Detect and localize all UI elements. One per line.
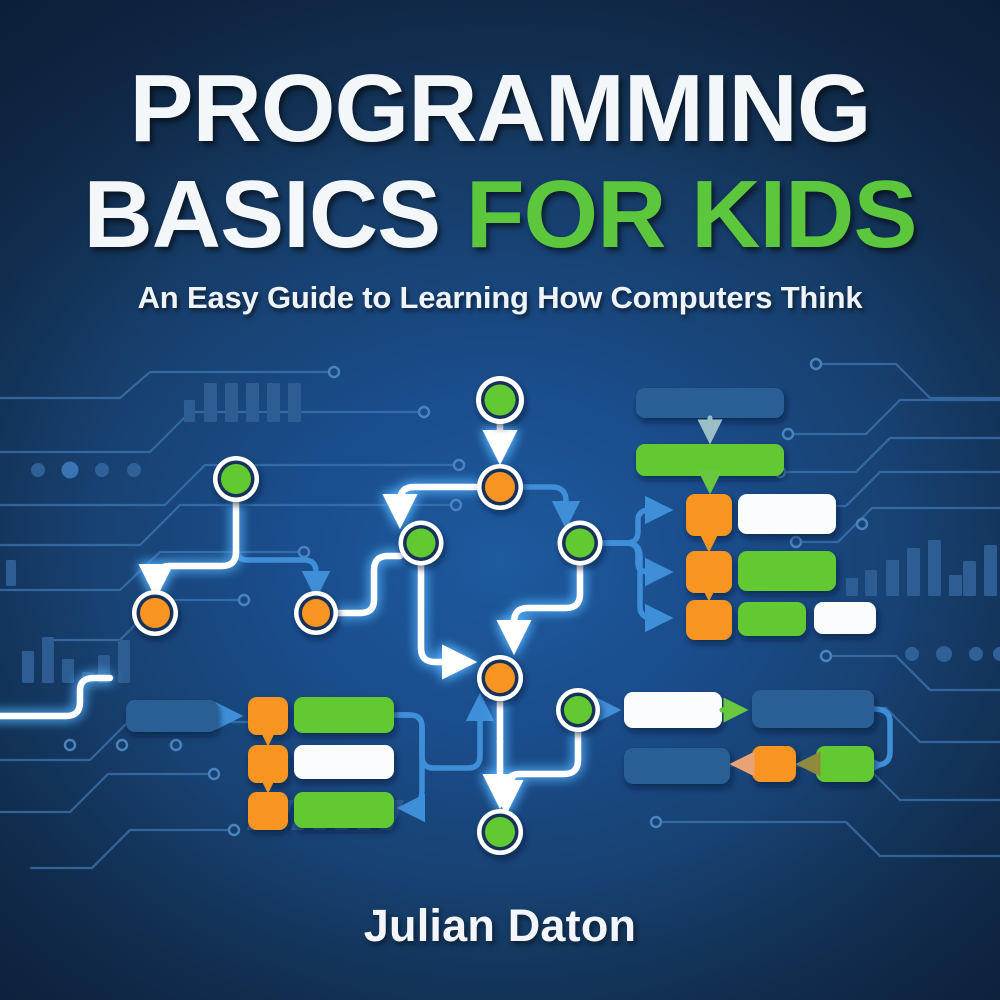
block-r-orange-2: [686, 551, 732, 593]
block-br-blue-1: [752, 690, 874, 728]
node-mid-green: [399, 521, 444, 566]
node-low-green: [477, 809, 523, 855]
node-top-green: [476, 376, 524, 424]
node-bottom-right-green: [556, 688, 600, 732]
title-line-2-accent: FOR KIDS: [466, 161, 917, 268]
block-r-orange-3: [686, 600, 732, 640]
block-br-white-1: [624, 692, 722, 728]
node-left-orange: [132, 590, 178, 636]
block-r-blue-head: [636, 388, 784, 418]
connector-rgreen-to-block1: [602, 510, 666, 543]
block-r-orange-1: [686, 494, 732, 536]
node-mid-orange: [294, 591, 338, 635]
connector-hub-to-mid-green: [400, 487, 478, 520]
block-bl-green-1: [294, 697, 394, 733]
cluster-bottom-left: [126, 697, 394, 830]
node-hub-orange: [477, 464, 523, 510]
connector-left-green-to-left-orange: [156, 501, 236, 590]
block-bl-green-3: [294, 792, 394, 828]
connector-mid-orange-to-mid-green: [338, 556, 400, 613]
subtitle: An Easy Guide to Learning How Computers …: [0, 280, 1000, 316]
block-bl-orange-2: [248, 745, 288, 783]
node-right-green: [558, 521, 603, 566]
connector-br-loop: [874, 709, 890, 765]
book-cover: PROGRAMMING BASICS FOR KIDS An Easy Guid…: [0, 0, 1000, 1000]
block-br-blue-2: [624, 748, 730, 784]
node-left-green: [213, 456, 259, 502]
connector-hub-to-right-green: [522, 487, 566, 522]
node-group: [132, 376, 603, 855]
connector-right-green-to-low-orange: [514, 565, 580, 646]
block-br-green-2: [816, 746, 874, 782]
connector-left-green-to-mid-orange: [236, 501, 316, 592]
block-br-orange-2: [752, 746, 796, 782]
title-line-2-white: BASICS: [83, 161, 465, 268]
connector-br-green-to-low-green: [506, 731, 578, 806]
block-r-green-2: [738, 551, 836, 591]
connector-left-edge-tail: [0, 678, 110, 716]
node-low-orange: [477, 655, 523, 701]
block-bl-blue-head: [126, 700, 218, 732]
author-name: Julian Daton: [0, 900, 1000, 952]
block-r-white-3: [814, 602, 876, 634]
title-line-2: BASICS FOR KIDS: [0, 168, 1000, 262]
connector-bl-cluster-up: [394, 700, 480, 768]
cluster-bottom-right: [624, 690, 874, 784]
cluster-right: [636, 388, 876, 640]
title-line-1: PROGRAMMING: [0, 62, 1000, 156]
block-r-white-1: [738, 494, 836, 534]
block-r-green-3: [738, 602, 806, 636]
connector-bl-cluster-loop: [394, 715, 422, 808]
block-bl-orange-3: [248, 792, 288, 830]
connector-mid-green-to-low-orange: [421, 565, 468, 662]
title-block: PROGRAMMING BASICS FOR KIDS: [0, 62, 1000, 262]
connector-rgreen-to-block3: [602, 543, 666, 618]
block-bl-orange-1: [248, 697, 288, 735]
block-r-green-head: [636, 444, 784, 476]
block-bl-white-2: [294, 745, 394, 779]
